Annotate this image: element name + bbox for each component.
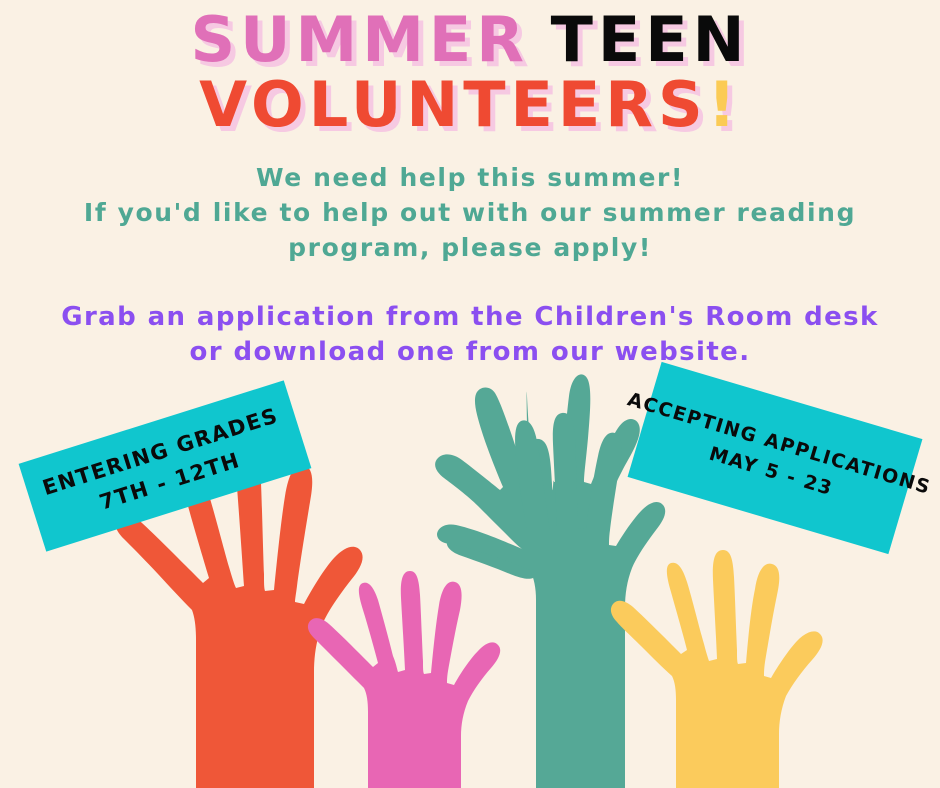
title-word-volunteers: VOLUNTEERS bbox=[199, 68, 708, 141]
hand-pink bbox=[308, 571, 500, 788]
poster-title: SUMMER TEEN VOLUNTEERS! bbox=[0, 8, 940, 136]
title-line-2: VOLUNTEERS! bbox=[0, 73, 940, 136]
title-word-teen: TEEN bbox=[551, 3, 750, 76]
intro-line-1: We need help this summer! bbox=[0, 160, 940, 195]
title-line-1: SUMMER TEEN bbox=[0, 8, 940, 71]
hand-yellow bbox=[611, 550, 823, 788]
instructions-line-2: or download one from our website. bbox=[0, 335, 940, 370]
poster-canvas: SUMMER TEEN VOLUNTEERS! We need help thi… bbox=[0, 0, 940, 788]
title-word-summer: SUMMER bbox=[191, 3, 530, 76]
instructions-paragraph: Grab an application from the Children's … bbox=[0, 300, 940, 370]
intro-line-3: program, please apply! bbox=[0, 230, 940, 265]
intro-paragraph: We need help this summer! If you'd like … bbox=[0, 160, 940, 265]
intro-line-2: If you'd like to help out with our summe… bbox=[0, 195, 940, 230]
instructions-line-1: Grab an application from the Children's … bbox=[0, 300, 940, 335]
title-exclamation: ! bbox=[708, 68, 741, 141]
